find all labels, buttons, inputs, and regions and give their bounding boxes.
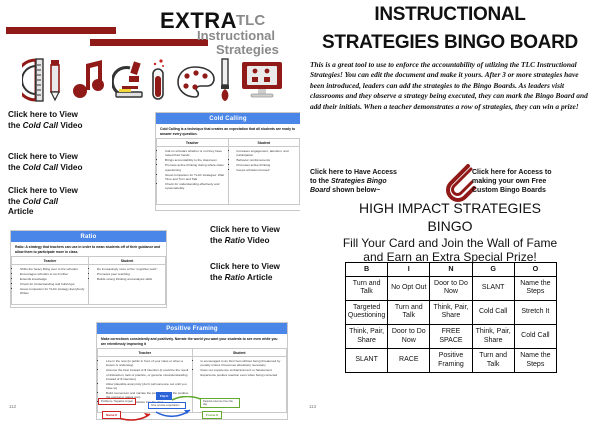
computer-monitor-icon (240, 60, 284, 100)
card-title: Ratio (11, 231, 166, 242)
pencil-icon (48, 58, 62, 102)
strategy-table: Teacher Student Call on scholars whether… (156, 138, 300, 205)
bingo-cell[interactable]: Door to Do Now (388, 324, 430, 348)
student-cell: Do increasingly more of the "cognitive w… (89, 265, 166, 305)
teacher-list: Shifts the heavy lifting over to the sch… (15, 267, 86, 295)
bingo-cell[interactable]: Turn and Talk (472, 349, 514, 373)
access-left-line2-pre: to the (310, 178, 331, 185)
list-item: Encourages scholars to Go Further (20, 272, 86, 276)
note-left: Problems / Negative Impact (98, 398, 136, 405)
link-line2-post: Video (58, 163, 82, 172)
list-item: Increases engagement, attention, and par… (237, 149, 298, 157)
bingo-cell[interactable]: Think, Pair, Share (346, 324, 388, 348)
list-item: Builds strong thinking and analysis skil… (97, 277, 163, 281)
col-student: Student (192, 349, 287, 357)
link-cold-call-video-2[interactable]: Click here to View the Cold Call Video (8, 152, 124, 173)
bingo-cell[interactable]: SLANT (346, 349, 388, 373)
table-row: Targeted Questioning Turn and Talk Think… (346, 300, 557, 324)
link-cold-call-video-1[interactable]: Click here to View the Cold Call Video (8, 110, 124, 131)
header-accent-bar-1 (6, 27, 116, 34)
list-item: Allow plausible anonymity (don't call so… (106, 382, 190, 390)
bingo-cell[interactable]: Turn and Talk (388, 300, 430, 324)
bingo-board-table: B I N G O Turn and Talk No Opt Out Door … (345, 262, 557, 373)
link-line2-post: Video (58, 121, 82, 130)
card-intro: Make corrections consistently and positi… (97, 334, 287, 348)
list-item: Promote active thinking during whole-cla… (165, 163, 226, 171)
list-item: Shifts the heavy lifting over to the sch… (20, 267, 86, 271)
name-flip-frame-diagram: Problems / Negative Impact Give precise … (96, 396, 242, 422)
link-line3: Article (8, 207, 33, 216)
col-teacher: Teacher (98, 349, 193, 357)
card-title: Cold Calling (156, 113, 300, 124)
right-intro-paragraph: This is a great tool to use to enforce t… (310, 60, 592, 112)
page-number-right: 113 (309, 404, 316, 409)
microscope-icon (112, 60, 146, 100)
link-line2-post: Video (245, 236, 269, 245)
link-ratio-article[interactable]: Click here to View the Ratio Article (210, 262, 300, 283)
list-item: Does not experience embarrassment or har… (201, 368, 285, 376)
link-line2-pre: the (210, 236, 225, 245)
bingo-cell[interactable]: Name the Steps (514, 276, 556, 300)
bingo-header-b: B (346, 263, 388, 277)
bingo-cell[interactable]: Turn and Talk (346, 276, 388, 300)
link-ratio-video[interactable]: Click here to View the Ratio Video (210, 225, 300, 246)
link-line1: Click here to View (8, 186, 78, 195)
bingo-header-g: G (472, 263, 514, 277)
list-item: Check for Understanding and build rigor (20, 282, 86, 286)
subject-icons-row (22, 54, 284, 106)
test-tube-icon (149, 58, 167, 102)
list-item: Promotes active thinking (237, 163, 298, 167)
header-accent-bar-2 (90, 39, 208, 46)
teacher-list: Call on scholars whether or not they hav… (160, 149, 226, 190)
bingo-header-row: B I N G O (346, 263, 557, 277)
link-line2-pre: the (8, 121, 23, 130)
link-cold-call-article[interactable]: Click here to View the Cold Call Article (8, 186, 124, 218)
list-item: Great companion for TLAC strategies: Wai… (165, 173, 226, 181)
access-left-line3-em: Board (310, 187, 330, 194)
table-row: SLANT RACE Positive Framing Turn and Tal… (346, 349, 557, 373)
access-right-line2: making your own Free (472, 178, 546, 185)
link-line2-em: Cold Call (23, 163, 58, 172)
right-title-line1: INSTRUCTIONAL (300, 4, 600, 26)
link-line2-pre: the (8, 163, 23, 172)
student-list: Increases engagement, attention, and par… (232, 149, 298, 172)
list-item: Do increasingly more of the "cognitive w… (97, 267, 163, 271)
list-item: Behavior reinforcements (237, 158, 298, 162)
list-item: Call on scholars whether or not they hav… (165, 149, 226, 157)
bingo-cell[interactable]: RACE (388, 349, 430, 373)
link-line1: Click here to View (210, 225, 280, 234)
bingo-header-n: N (430, 263, 472, 277)
left-page-header: EXTRA TLC Instructional Strategies (0, 0, 300, 50)
frame-it-label: Frame It (202, 411, 222, 419)
list-item: Live in the now (in public in front of y… (106, 359, 190, 367)
page-number-left: 112 (9, 404, 16, 409)
right-title-line2: STRATEGIES BINGO BOARD (300, 32, 600, 54)
bingo-cell[interactable]: No Opt Out (388, 276, 430, 300)
link-line1: Click here to View (8, 152, 78, 161)
paint-brush-icon (218, 58, 232, 102)
flip-it-label: Flip It (156, 392, 172, 400)
bingo-cell[interactable]: Positive Framing (430, 349, 472, 373)
access-left-line3-post: shown below~ (330, 187, 380, 194)
table-row: Turn and Talk No Opt Out Door to Do Now … (346, 276, 557, 300)
list-item: Check for understanding effectively and … (165, 182, 226, 190)
access-left-line1: Click here to Have Access (310, 169, 397, 176)
access-left-line2-em: Strategies Bingo (331, 178, 387, 185)
note-mid: Give precise expectation (148, 402, 186, 409)
subhead-line1: Fill Your Card and Join the Wall of Fame (300, 236, 600, 250)
list-item: Great companion for TLAC strategy Everyb… (20, 287, 86, 295)
bingo-cell[interactable]: Cold Call (472, 300, 514, 324)
bingo-cell[interactable]: Name the Steps (514, 349, 556, 373)
card-intro: Cold Calling is a technique that creates… (156, 124, 300, 138)
link-line2-pre: the (8, 197, 23, 206)
student-list: Do increasingly more of the "cognitive w… (92, 267, 163, 281)
link-line2-post: Article (245, 273, 272, 282)
bingo-header-i: I (388, 263, 430, 277)
card-ratio: Ratio Ratio: A strategy that teachers ca… (10, 230, 167, 308)
link-line2-em: Cold Call (23, 121, 58, 130)
student-cell: Increases engagement, attention, and par… (228, 147, 300, 205)
link-line2-em: Cold Call (23, 197, 58, 206)
link-strategies-bingo-board[interactable]: Click here to Have Access to the Strateg… (310, 168, 430, 195)
strategy-table: Teacher Student Shifts the heavy lifting… (11, 256, 166, 305)
link-line1: Click here to View (8, 110, 78, 119)
col-teacher: Teacher (157, 139, 229, 147)
bingo-cell[interactable]: Think, Pair, Share (430, 300, 472, 324)
bingo-cell-free-space[interactable]: FREE SPACE (430, 324, 472, 348)
note-right: Desired outcome from the day (200, 398, 240, 408)
list-item: Extends knowledge (20, 277, 86, 281)
bingo-cell[interactable]: SLANT (472, 276, 514, 300)
link-custom-bingo-boards[interactable]: Click here for Access to making your own… (472, 168, 596, 195)
teacher-cell: Shifts the heavy lifting over to the sch… (12, 265, 89, 305)
access-right-line1: Click here for Access to (472, 169, 552, 176)
access-right-line3: Custom Bingo Boards (472, 187, 546, 194)
page-left: EXTRA TLC Instructional Strategies (0, 0, 300, 424)
header-tlc: TLC (236, 12, 265, 29)
list-item: Is encouraged to do their best without b… (201, 359, 285, 367)
page-right: INSTRUCTIONAL STRATEGIES BINGO BOARD Thi… (300, 0, 600, 424)
card-intro: Ratio: A strategy that teachers can use … (11, 242, 166, 256)
name-it-label: Name It (102, 411, 121, 419)
card-title: Positive Framing (97, 323, 287, 334)
bingo-header-o: O (514, 263, 556, 277)
headline-bingo: BINGO (300, 218, 600, 234)
link-line2-em: Ratio (225, 273, 245, 282)
bingo-cell[interactable]: Door to Do Now (430, 276, 472, 300)
bingo-cell[interactable]: Cold Call (514, 324, 556, 348)
music-note-icon (72, 60, 106, 100)
protractor-ruler-icon (22, 56, 48, 104)
col-student: Student (89, 257, 166, 265)
list-item: Assume the best instead of ill intention… (106, 368, 190, 381)
bingo-cell[interactable]: Stretch It (514, 300, 556, 324)
header-instructional: Instructional (197, 28, 275, 43)
col-teacher: Teacher (12, 257, 89, 265)
link-line2-pre: the (210, 273, 225, 282)
headline-high-impact: HIGH IMPACT STRATEGIES (300, 200, 600, 216)
list-item: Promotes peer teaching (97, 272, 163, 276)
link-line2-em: Ratio (225, 236, 245, 245)
table-row: Think, Pair, Share Door to Do Now FREE S… (346, 324, 557, 348)
col-student: Student (228, 139, 300, 147)
list-item: Keeps scholars focused (237, 168, 298, 172)
paint-palette-icon (177, 66, 215, 98)
link-line1: Click here to View (210, 262, 280, 271)
bingo-cell[interactable]: Targeted Questioning (346, 300, 388, 324)
list-item: Brings accountability to the classroom (165, 158, 226, 162)
bingo-cell[interactable]: Think, Pair, Share (472, 324, 514, 348)
teacher-cell: Call on scholars whether or not they hav… (157, 147, 229, 205)
card-cold-calling: Cold Calling Cold Calling is a technique… (155, 112, 301, 211)
student-list: Is encouraged to do their best without b… (196, 359, 285, 377)
